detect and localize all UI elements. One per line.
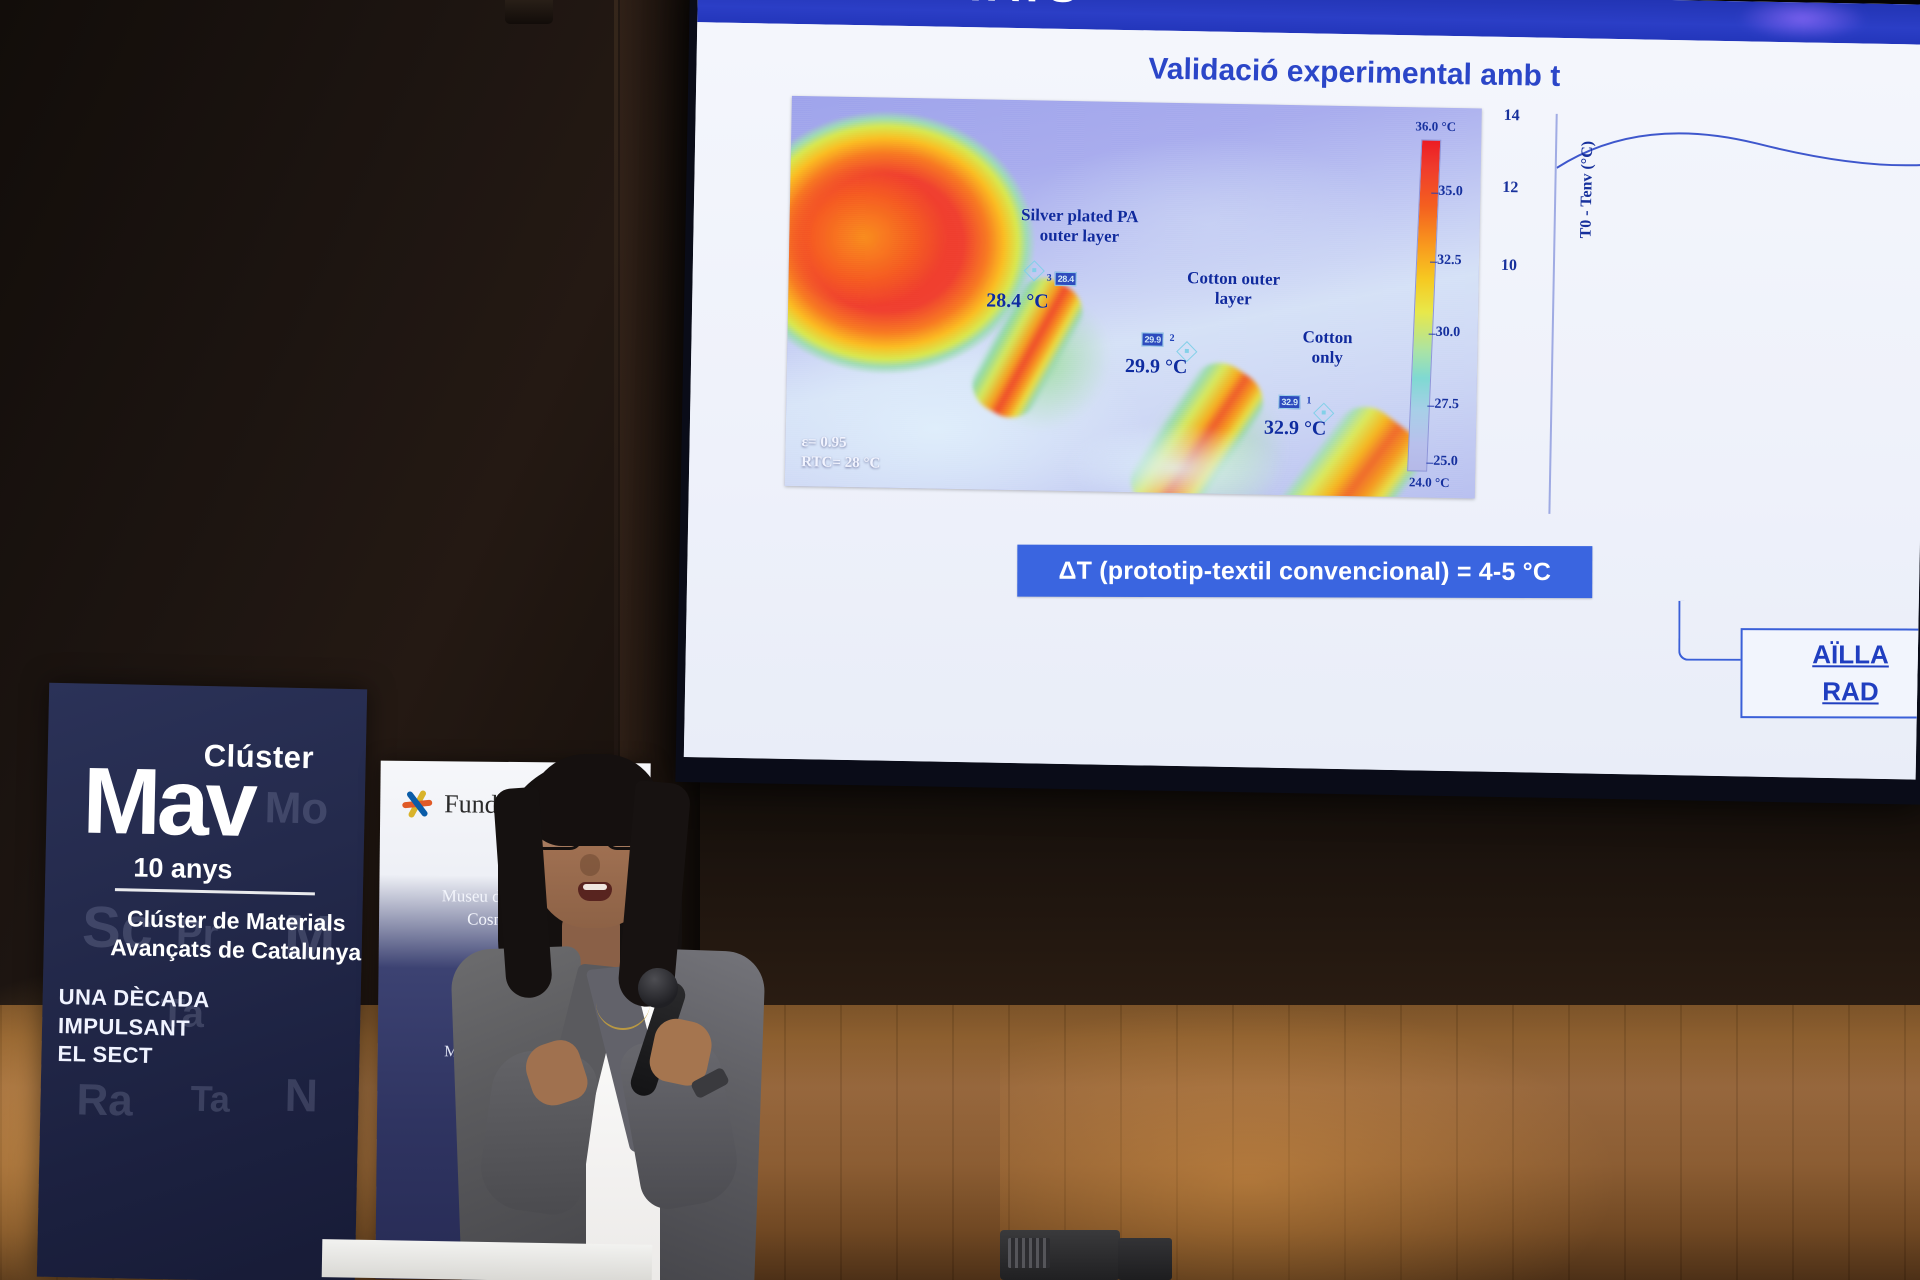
periodic-symbol: Mo <box>264 783 329 834</box>
colorbar-tick-25: 25.0 <box>1433 454 1458 470</box>
colorbar-max-label: 36.0 °C <box>1415 118 1456 135</box>
speaker-presenter <box>440 752 770 1280</box>
mouth <box>578 882 612 901</box>
slide-section-title: 5. RESULTATS <box>750 0 1080 13</box>
colorbar-tick-30: 30.0 <box>1436 325 1461 341</box>
rtc-value: RTC= 28 °C <box>801 452 880 474</box>
slide-surface: 5. RESULTATS Validació experimental amb … <box>684 0 1920 780</box>
auditorium-stage: 5. RESULTATS Validació experimental amb … <box>0 0 1920 1280</box>
projector-glare <box>1737 0 1868 42</box>
nose <box>580 854 600 876</box>
side-chart: 14 12 10 T0 - Tenv (°C) <box>1488 107 1920 535</box>
mav-tagline: UNA DÈCADA IMPULSANT EL SECT <box>57 983 339 1075</box>
caixa-star-icon <box>402 789 432 819</box>
mav-anniversary: 10 anys <box>133 853 233 886</box>
silver-plated-label: Silver plated PA outer layer <box>984 204 1175 248</box>
chart-ytick-12: 12 <box>1502 179 1518 197</box>
delta-t-text: ΔT (prototip-textil convencional) = 4-5 … <box>1058 556 1551 586</box>
temp-value-2: 29.9 °C <box>1125 355 1188 379</box>
chart-ylabel: T0 - Tenv (°C) <box>1577 141 1597 239</box>
mav-subtitle: Clúster de Materials Avançats de Catalun… <box>99 904 367 967</box>
slide-body: Validació experimental amb t <box>684 22 1920 779</box>
chart-ytick-14: 14 <box>1504 107 1520 125</box>
ceiling-vent-icon <box>505 0 553 24</box>
cotton-only-label: Cotton only <box>1257 326 1398 369</box>
colorbar-tick-325: 32.5 <box>1437 253 1462 269</box>
thermal-noise-overlay <box>785 96 1482 499</box>
delta-t-banner: ΔT (prototip-textil convencional) = 4-5 … <box>1017 545 1592 599</box>
colorbar-tick-275: 27.5 <box>1434 397 1459 413</box>
projection-screen: 5. RESULTATS Validació experimental amb … <box>675 0 1920 805</box>
callout-line1: AÏLLA <box>1812 639 1889 670</box>
emissivity-value: ε= 0.95 <box>801 432 880 454</box>
callout-line2: RAD <box>1822 676 1878 707</box>
temp-value-3: 32.9 °C <box>1264 417 1327 441</box>
slide-subtitle: Validació experimental amb t <box>1148 52 1560 94</box>
colorbar-gradient <box>1407 139 1441 471</box>
cotton-outer-label: Cotton outer layer <box>1143 267 1324 310</box>
cluster-mav-banner: MoScPrMTaRaTaN Clúster Mav 10 anys Clúst… <box>37 683 367 1280</box>
periodic-symbol: N <box>284 1068 318 1123</box>
thermal-meta: ε= 0.95 RTC= 28 °C <box>801 432 881 474</box>
mav-wordmark: Mav <box>82 757 255 847</box>
colorbar-tick-35: 35.0 <box>1438 184 1463 200</box>
temp-value-1: 28.4 °C <box>986 289 1049 313</box>
thermal-image: Silver plated PA outer layer 3 28.4 28.4… <box>785 96 1482 499</box>
chart-curve <box>1557 118 1920 185</box>
chart-ytick-10: 10 <box>1501 257 1517 275</box>
foreground-table <box>322 1239 653 1280</box>
periodic-symbol: Ra <box>76 1075 133 1126</box>
stage-equipment-box <box>1000 1230 1120 1280</box>
stage-equipment-box-2 <box>1118 1238 1172 1280</box>
thermal-colorbar: 36.0 °C 35.0 32.5 30.0 27.5 25.0 24.0 °C <box>1407 131 1473 482</box>
colorbar-min-label: 24.0 °C <box>1409 474 1450 491</box>
callout-connector <box>1678 601 1744 661</box>
callout-box: AÏLLA RAD <box>1740 628 1920 719</box>
periodic-symbol: Ta <box>190 1078 230 1121</box>
